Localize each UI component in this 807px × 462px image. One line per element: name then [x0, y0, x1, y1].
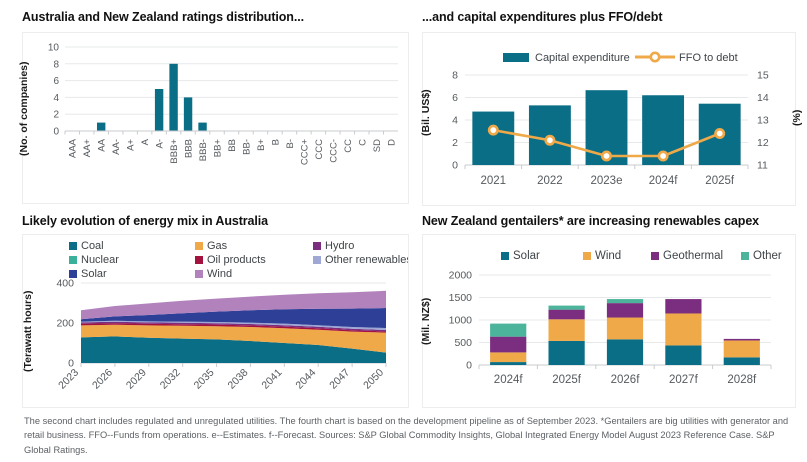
x-tick-label: BB+: [213, 139, 224, 158]
bar-segment: [607, 339, 643, 365]
x-tick-label: 2035: [192, 367, 217, 392]
data-point: [546, 136, 554, 144]
x-tick-label: 2026: [90, 367, 115, 392]
x-tick-label: BB: [227, 139, 238, 152]
x-tick-label: CCC+: [299, 139, 310, 166]
y2-tick-label: 15: [757, 70, 769, 82]
y2-tick-label: 13: [757, 115, 769, 127]
x-tick-label: 2028f: [727, 374, 757, 386]
y-tick-label: 1000: [449, 315, 473, 327]
legend-swatch-hydro: [313, 242, 321, 250]
x-tick-label: 2027f: [669, 374, 699, 386]
bar-segment: [490, 362, 526, 365]
panel3-title: Likely evolution of energy mix in Austra…: [22, 214, 412, 228]
y2-tick-label: 12: [757, 137, 769, 149]
x-tick-label: A-: [155, 139, 166, 149]
panel2-plot-frame: Capital expenditureFFO to debt0246811121…: [422, 32, 796, 206]
x-tick-label: C: [357, 139, 368, 146]
legend-swatch-solar: [501, 252, 509, 260]
x-tick-label: BB-: [241, 139, 252, 155]
legend-label-capital-expenditure: Capital expenditure: [535, 52, 630, 64]
x-tick-label: D: [386, 139, 397, 146]
y-tick-label: 2000: [449, 270, 473, 282]
legend-marker-ffo-to-debt: [651, 53, 659, 61]
x-tick-label: B+: [256, 139, 267, 151]
x-tick-label: AAA: [68, 138, 79, 158]
legend-swatch-geothermal: [651, 252, 659, 260]
legend-label-other-renewables: Other renewables: [325, 254, 408, 266]
panel3-chart: CoalGasHydroNuclearOil productsOther ren…: [23, 235, 408, 407]
legend-label-coal: Coal: [81, 240, 104, 252]
x-tick-label: 2024f: [649, 175, 679, 187]
x-tick-label: 2023: [56, 367, 81, 392]
x-tick-label: B-: [285, 139, 296, 149]
bar-segment: [548, 341, 584, 365]
bar-segment: [665, 345, 701, 365]
panel1-title: Australia and New Zealand ratings distri…: [22, 10, 412, 24]
bar-segment: [724, 340, 760, 357]
y-tick-label: 8: [452, 70, 458, 82]
x-tick-label: B: [270, 139, 281, 145]
panel4-title: New Zealand gentailers* are increasing r…: [422, 214, 797, 228]
x-tick-label: AA+: [82, 139, 93, 158]
x-tick-label: CCC-: [328, 139, 339, 163]
y-tick-label: 10: [48, 43, 60, 54]
bar-segment: [607, 303, 643, 317]
panel-energy-mix: Likely evolution of energy mix in Austra…: [22, 214, 412, 404]
x-tick-label: 2023e: [591, 175, 623, 187]
x-tick-label: 2047: [327, 367, 352, 392]
bar-segment: [548, 306, 584, 310]
data-point: [602, 152, 610, 160]
panel-nz-gentailers: New Zealand gentailers* are increasing r…: [422, 214, 797, 404]
legend-label-solar: Solar: [81, 268, 107, 280]
y-tick-label: 4: [53, 93, 59, 104]
bar: [184, 97, 192, 131]
bar-segment: [724, 339, 760, 341]
y-tick-label: 1500: [449, 292, 473, 304]
y2-tick-label: 11: [757, 160, 768, 172]
x-tick-label: 2038: [226, 367, 251, 392]
legend-label-geothermal: Geothermal: [663, 250, 723, 262]
legend-label-wind: Wind: [207, 268, 232, 280]
x-tick-label: 2050: [361, 367, 386, 392]
panel1-y-axis-title: (No. of companies): [18, 44, 30, 174]
x-tick-label: 2024f: [494, 374, 524, 386]
x-tick-label: 2022: [537, 175, 563, 187]
legend-swatch-wind: [195, 270, 203, 278]
x-tick-label: AA: [97, 138, 108, 151]
legend-label-other: Other: [753, 250, 782, 262]
x-tick-label: BBB: [184, 139, 195, 158]
legend-swatch-other: [741, 252, 749, 260]
y-tick-label: 8: [53, 59, 59, 70]
legend-label-wind: Wind: [595, 250, 621, 262]
legend-swatch-other-renewables: [313, 256, 321, 264]
data-point: [489, 126, 497, 134]
y-tick-label: 2: [53, 110, 59, 121]
y-tick-label: 6: [452, 92, 458, 104]
bar-segment: [665, 299, 701, 313]
bar-segment: [490, 352, 526, 362]
legend-swatch-wind: [583, 252, 591, 260]
x-tick-label: 2032: [158, 367, 183, 392]
legend-swatch-nuclear: [69, 256, 77, 264]
x-tick-label: 2029: [124, 367, 149, 392]
x-tick-label: AA-: [111, 139, 122, 155]
bar: [155, 89, 163, 131]
y-tick-label: 0: [466, 360, 472, 372]
x-tick-label: CCC: [314, 139, 325, 160]
legend-swatch-coal: [69, 242, 77, 250]
y-tick-label: 2: [452, 137, 458, 149]
infographic-page: Australia and New Zealand ratings distri…: [0, 0, 807, 462]
bar-segment: [490, 324, 526, 337]
x-tick-label: SD: [372, 139, 383, 152]
data-point: [659, 152, 667, 160]
panel2-chart: Capital expenditureFFO to debt0246811121…: [423, 33, 795, 205]
panel2-y-axis-title: (Bil. US$): [420, 58, 432, 168]
x-tick-label: BBB+: [169, 139, 180, 164]
bar: [97, 123, 105, 131]
x-tick-label: CC: [343, 139, 354, 153]
legend-label-oil-products: Oil products: [207, 254, 266, 266]
legend-swatch-capital-expenditure: [503, 53, 529, 62]
panel1-chart: 0246810AAAAA+AAAA-A+AA-BBB+BBBBBB-BB+BBB…: [23, 33, 408, 203]
legend-swatch-gas: [195, 242, 203, 250]
bar-segment: [607, 299, 643, 303]
bar: [169, 64, 177, 131]
y-tick-label: 0: [53, 127, 59, 138]
x-tick-label: A: [140, 138, 151, 145]
x-tick-label: 2025f: [552, 374, 582, 386]
legend-label-ffo-to-debt: FFO to debt: [679, 52, 738, 64]
bar-segment: [548, 310, 584, 320]
x-tick-label: 2041: [259, 367, 284, 392]
y-tick-label: 400: [56, 278, 74, 290]
x-tick-label: 2021: [481, 175, 507, 187]
y-tick-label: 500: [454, 337, 472, 349]
panel2-title: ...and capital expenditures plus FFO/deb…: [422, 10, 797, 24]
panel-ratings-distribution: Australia and New Zealand ratings distri…: [22, 10, 412, 210]
panel3-plot-frame: CoalGasHydroNuclearOil productsOther ren…: [22, 234, 409, 408]
panel2-y2-axis-title: (%): [791, 105, 803, 131]
bar-segment: [548, 319, 584, 341]
x-tick-label: 2026f: [611, 374, 641, 386]
panel4-plot-frame: SolarWindGeothermalOther0500100015002000…: [422, 234, 796, 408]
bar-segment: [665, 313, 701, 345]
legend-label-solar: Solar: [513, 250, 540, 262]
y-tick-label: 0: [452, 160, 458, 172]
bar: [472, 112, 514, 165]
x-tick-label: 2044: [293, 367, 318, 392]
legend-label-nuclear: Nuclear: [81, 254, 119, 266]
data-point: [716, 129, 724, 137]
panel4-y-axis-title: (Mil. NZ$): [420, 266, 432, 376]
x-tick-label: BBB-: [198, 139, 209, 161]
panel1-plot-frame: 0246810AAAAA+AAAA-A+AA-BBB+BBBBBB-BB+BBB…: [22, 32, 409, 204]
bar-segment: [490, 337, 526, 353]
y-tick-label: 200: [56, 318, 74, 330]
legend-label-gas: Gas: [207, 240, 228, 252]
y-tick-label: 4: [452, 115, 458, 127]
x-tick-label: 2025f: [705, 175, 735, 187]
legend-swatch-oil-products: [195, 256, 203, 264]
x-tick-label: A+: [126, 139, 137, 151]
panel4-chart: SolarWindGeothermalOther0500100015002000…: [423, 235, 795, 407]
footnote: The second chart includes regulated and …: [24, 414, 796, 457]
panel3-y-axis-title: (Terawatt hours): [22, 276, 34, 386]
panel-capex-ffo: ...and capital expenditures plus FFO/deb…: [422, 10, 797, 210]
bar-segment: [724, 357, 760, 365]
bar-segment: [607, 318, 643, 340]
y-tick-label: 6: [53, 76, 59, 87]
bar: [198, 123, 206, 131]
legend-label-hydro: Hydro: [325, 240, 354, 252]
y2-tick-label: 14: [757, 92, 769, 104]
